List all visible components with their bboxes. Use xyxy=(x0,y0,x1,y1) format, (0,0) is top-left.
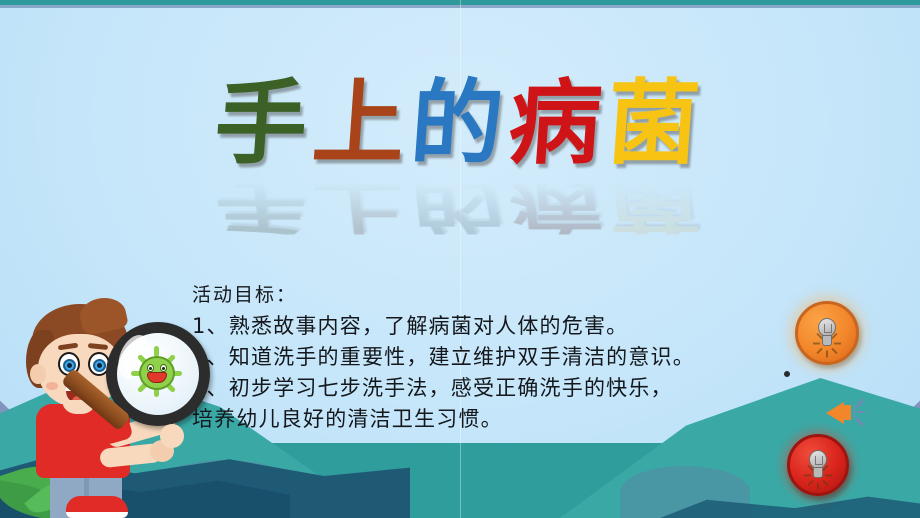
pupil-left xyxy=(67,363,72,368)
presentation-slide: 手上的病菌 手上的病菌 活动目标： 1、熟悉故事内容，了解病菌对人体的危害。 2… xyxy=(0,0,920,518)
bullet-dot xyxy=(784,371,790,377)
objectives-text-block: 活动目标： 1、熟悉故事内容，了解病菌对人体的危害。 2、知道洗手的重要性，建立… xyxy=(192,280,852,435)
ear xyxy=(30,364,46,384)
cheek xyxy=(46,382,58,390)
title-char-jun: 菌 xyxy=(604,78,708,170)
answer-button[interactable] xyxy=(787,434,849,496)
objective-line-2: 2、知道洗手的重要性，建立维护双手清洁的意识。 xyxy=(192,342,852,373)
objectives-heading: 活动目标： xyxy=(192,280,852,311)
title-char-shang: 上 xyxy=(310,78,414,170)
objective-line-3: 3、初步学习七步洗手法，感受正确洗手的快乐， xyxy=(192,373,852,404)
title-char-shou: 手 xyxy=(212,78,316,170)
hand-upper xyxy=(160,424,184,448)
slide-title: 手上的病菌 xyxy=(0,78,920,170)
sound-wave xyxy=(854,411,865,413)
title-char-bing: 病 xyxy=(506,78,610,170)
objective-line-4: 培养幼儿良好的清洁卫生习惯。 xyxy=(192,404,852,435)
germ-icon xyxy=(134,352,180,394)
boy-character-illustration xyxy=(14,300,214,518)
pupil-right xyxy=(97,363,102,368)
shoe-sole xyxy=(66,512,128,518)
hint-button[interactable] xyxy=(795,301,859,365)
lightbulb-icon xyxy=(816,318,838,348)
objective-line-1: 1、熟悉故事内容，了解病菌对人体的危害。 xyxy=(192,311,852,342)
lightbulb-icon xyxy=(807,450,829,480)
title-char-de: 的 xyxy=(408,78,512,170)
sound-button[interactable] xyxy=(826,392,870,432)
magnifying-glass-icon xyxy=(106,322,210,426)
speaker-box-icon xyxy=(842,405,851,420)
sound-wave xyxy=(857,398,864,406)
